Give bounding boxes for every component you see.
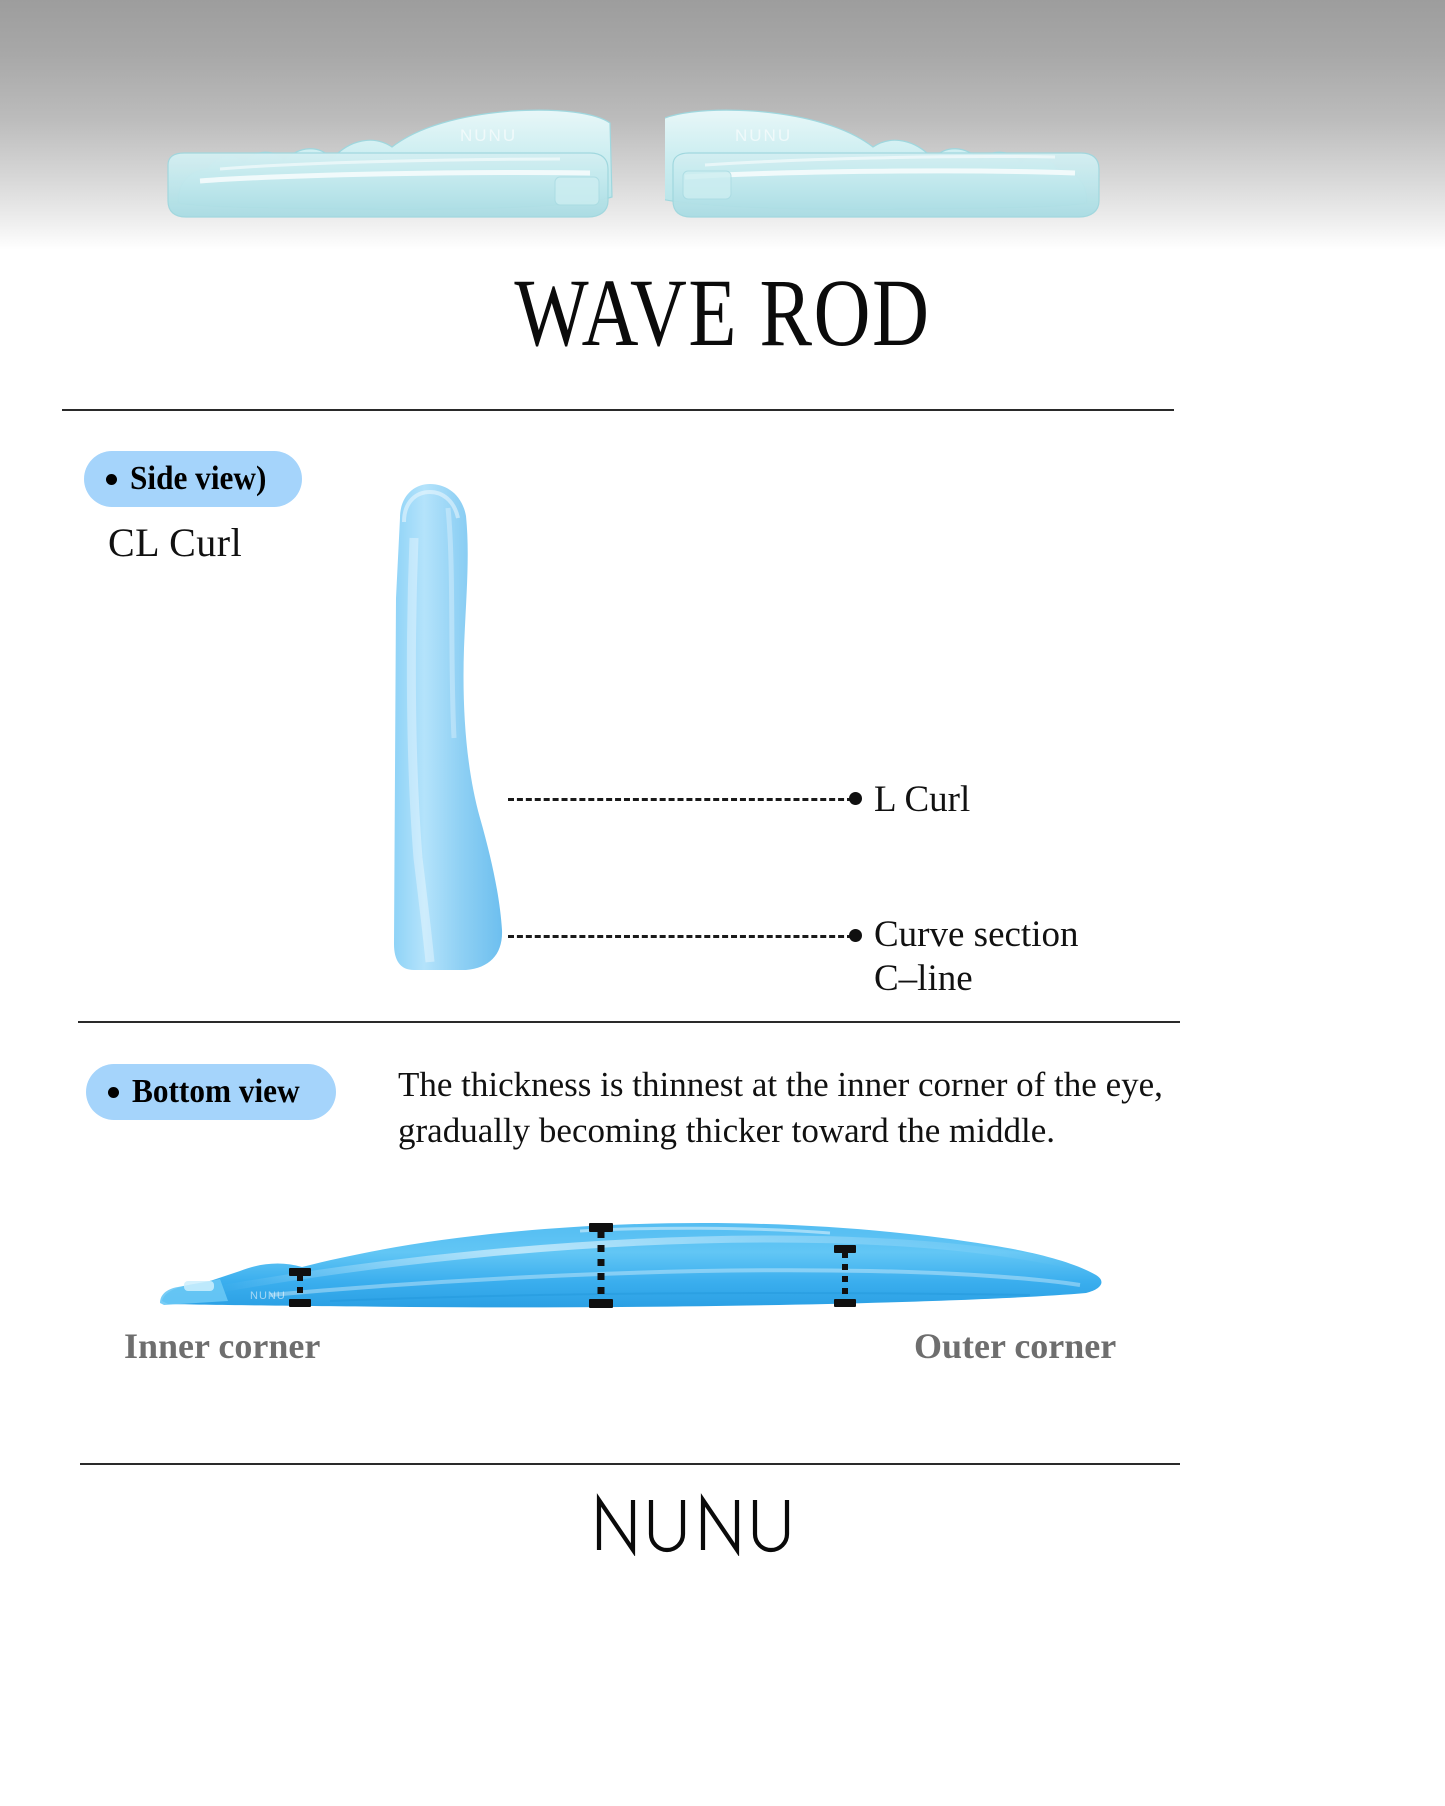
divider-bottom (80, 1463, 1180, 1465)
svg-text:NUNU: NUNU (735, 126, 792, 145)
brand-logo (0, 1490, 1445, 1561)
bullet-dot-icon (108, 1087, 119, 1098)
side-view-product-photo (370, 478, 530, 978)
callout-label-curve-section: Curve section C–line (874, 913, 1078, 1000)
outer-corner-label: Outer corner (914, 1325, 1116, 1367)
section-label-bottom-view: Bottom view (86, 1064, 336, 1120)
page-title: WAVE ROD (130, 265, 1315, 361)
bottom-view-product-photo: NUNU (150, 1205, 1110, 1345)
bullet-dot-icon (106, 474, 117, 485)
callout-curve-section-line2: C–line (874, 958, 973, 999)
callout-dot-l-curl (849, 792, 862, 805)
product-photo-right: NUNU (665, 85, 1105, 230)
side-view-label-text: Side view) (130, 460, 266, 498)
section-label-side-view: Side view) (84, 451, 302, 507)
bottom-view-label-text: Bottom view (132, 1073, 300, 1111)
svg-text:NUNU: NUNU (460, 126, 517, 145)
divider-top (62, 409, 1174, 411)
inner-corner-label: Inner corner (124, 1325, 320, 1367)
cl-curl-label: CL Curl (108, 519, 242, 566)
callout-leader-l-curl (508, 798, 853, 801)
divider-middle (78, 1021, 1180, 1023)
svg-text:NUNU: NUNU (250, 1290, 286, 1302)
nunu-logo-icon (593, 1490, 853, 1556)
callout-dot-curve-section (849, 929, 862, 942)
bottom-view-description: The thickness is thinnest at the inner c… (398, 1062, 1188, 1154)
bottom-view-description-line1: The thickness is thinnest at the inner c… (398, 1065, 1097, 1104)
callout-leader-curve-section (508, 935, 853, 938)
hero-photo-band: NUNU NUNU (0, 0, 1445, 250)
product-photo-left: NUNU (160, 85, 620, 230)
callout-curve-section-line1: Curve section (874, 914, 1078, 955)
callout-label-l-curl: L Curl (874, 778, 970, 822)
